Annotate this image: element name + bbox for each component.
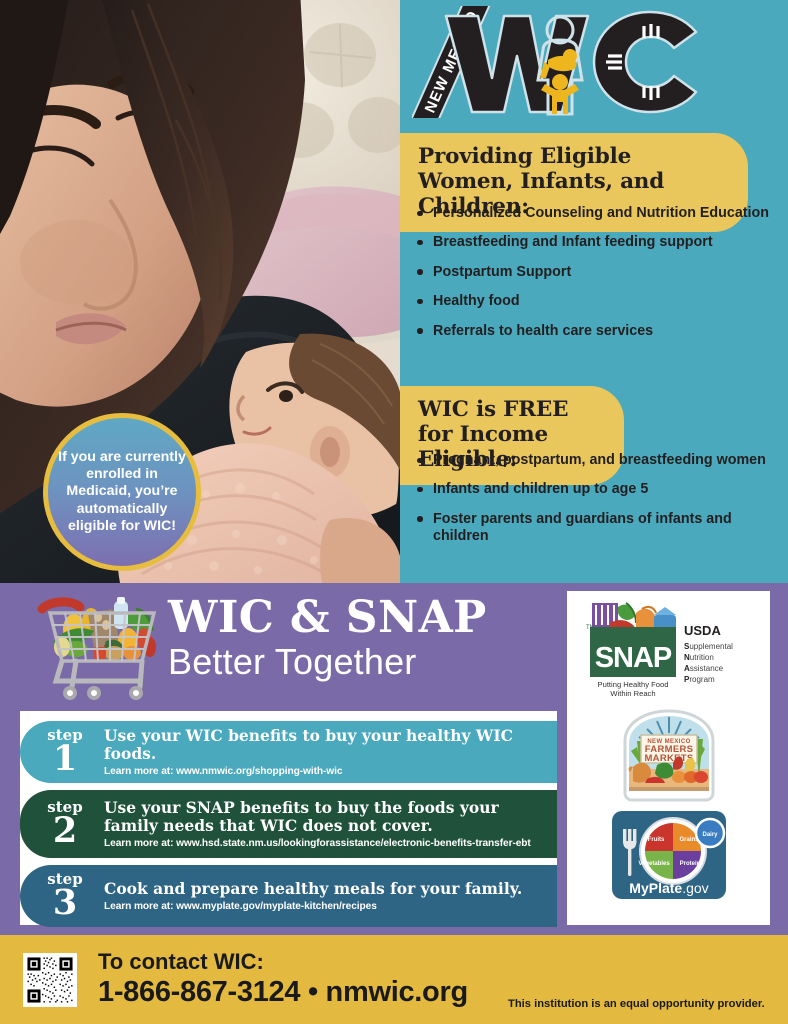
list-item: Pregnant, postpartum, and breastfeeding …	[416, 452, 778, 469]
wic-snap-heading-group: WIC & SNAP Better Together	[168, 596, 558, 682]
myplate-wordmark: MyPlate.gov	[629, 880, 708, 896]
medicaid-badge-text: If you are currently enrolled in Medicai…	[48, 449, 196, 536]
footer: To contact WIC: 1-866-867-3124 • nmwic.o…	[0, 935, 788, 1024]
svg-text:Nutrition: Nutrition	[684, 653, 714, 662]
list-item: Infants and children up to age 5	[416, 481, 778, 498]
services-list: Personalized Counseling and Nutrition Ed…	[416, 205, 778, 352]
svg-text:TM: TM	[586, 625, 595, 631]
myplate-group-protein: Protein	[679, 861, 700, 867]
eligibility-list: Pregnant, postpartum, and breastfeeding …	[416, 452, 778, 558]
equal-opportunity-disclaimer: This institution is an equal opportunity…	[508, 998, 765, 1010]
myplate-group-fruits: Fruits	[647, 837, 664, 843]
list-item: Referrals to health care services	[416, 323, 778, 340]
wic-snap-title: WIC & SNAP	[168, 596, 558, 640]
step-row: step 2 Use your SNAP benefits to buy the…	[20, 790, 557, 858]
myplate-group-vegetables: Vegetables	[638, 861, 670, 867]
svg-text:Supplemental: Supplemental	[684, 642, 733, 651]
step-number: 2	[26, 813, 104, 848]
wic-snap-subtitle: Better Together	[168, 642, 558, 682]
snap-wordmark: SNAP	[594, 642, 671, 674]
step-badge: step 2	[20, 800, 104, 848]
partner-logos-panel: SNAP TM Putting Healthy Food Within Reac…	[567, 591, 770, 925]
step-title: Use your WIC benefits to buy your health…	[104, 727, 549, 763]
step-number: 1	[26, 741, 104, 776]
step-badge: step 1	[20, 728, 104, 776]
step-row: step 1 Use your WIC benefits to buy your…	[20, 721, 557, 783]
nm-wic-logo: NEW MEXICO	[412, 6, 712, 116]
myplate-logo: Fruits Grains Vegetables Protein Dairy M…	[610, 809, 728, 901]
wic-snap-section: WIC & SNAP Better Together step 1 Use yo…	[0, 583, 788, 935]
medicaid-eligibility-badge: If you are currently enrolled in Medicai…	[43, 413, 201, 571]
contact-value[interactable]: 1-866-867-3124 • nmwic.org	[98, 975, 468, 1010]
top-section: NEW MEXICO	[0, 0, 788, 583]
myplate-group-dairy: Dairy	[702, 832, 718, 838]
step-title: Use your SNAP benefits to buy the foods …	[104, 799, 549, 835]
list-item: Personalized Counseling and Nutrition Ed…	[416, 205, 778, 222]
list-item: Healthy food	[416, 293, 778, 310]
list-item: Foster parents and guardians of infants …	[416, 511, 778, 546]
shopping-cart-icon	[36, 595, 164, 703]
step-learn-more-link[interactable]: Learn more at: www.myplate.gov/myplate-k…	[104, 901, 549, 912]
svg-text:Assistance: Assistance	[684, 664, 724, 673]
step-body: Use your WIC benefits to buy your health…	[104, 727, 557, 777]
contact-label: To contact WIC:	[98, 949, 468, 975]
snap-usda-logo: SNAP TM Putting Healthy Food Within Reac…	[574, 597, 764, 701]
step-learn-more-link[interactable]: Learn more at: www.nmwic.org/shopping-wi…	[104, 766, 549, 777]
step-learn-more-link[interactable]: Learn more at: www.hsd.state.nm.us/looki…	[104, 838, 549, 849]
snap-tagline-line1: Putting Healthy Food	[597, 680, 668, 689]
step-number: 3	[26, 885, 104, 920]
step-row: step 3 Cook and prepare healthy meals fo…	[20, 865, 557, 927]
list-item: Postpartum Support	[416, 264, 778, 281]
qr-code-icon[interactable]	[23, 953, 77, 1007]
usda-wordmark: USDA	[684, 623, 721, 638]
step-body: Cook and prepare healthy meals for your …	[104, 880, 557, 912]
step-badge: step 3	[20, 872, 104, 920]
snap-tagline-line2: Within Reach	[610, 689, 655, 698]
list-item: Breastfeeding and Infant feeding support	[416, 234, 778, 251]
steps-card: step 1 Use your WIC benefits to buy your…	[20, 711, 557, 925]
step-body: Use your SNAP benefits to buy the foods …	[104, 799, 557, 849]
wic-poster: NEW MEXICO	[0, 0, 788, 1024]
step-title: Cook and prepare healthy meals for your …	[104, 880, 549, 898]
svg-text:Program: Program	[684, 675, 715, 684]
nm-farmers-markets-logo: NEW MEXICO FARMERS MARKETS	[617, 707, 721, 805]
contact-block: To contact WIC: 1-866-867-3124 • nmwic.o…	[98, 949, 468, 1010]
